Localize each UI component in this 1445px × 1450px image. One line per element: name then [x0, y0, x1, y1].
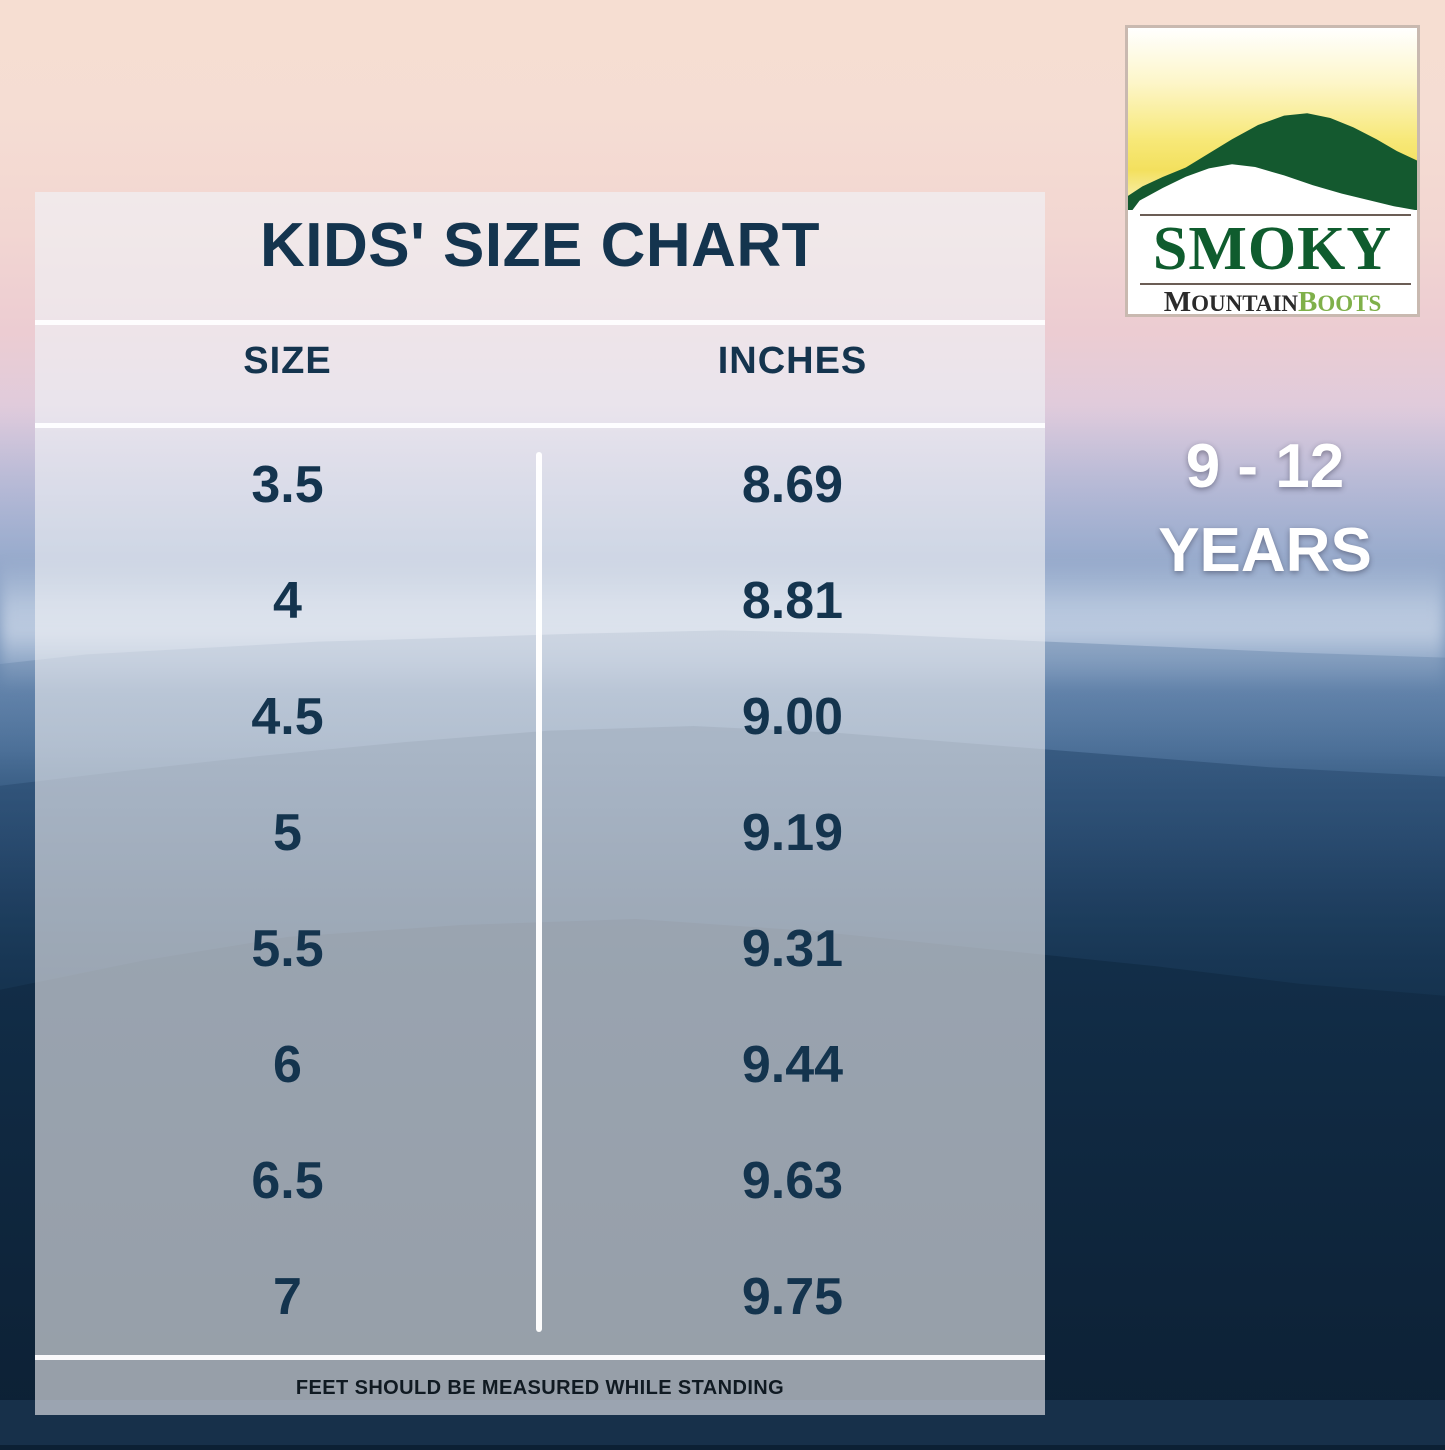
cell-size: 5.5 — [35, 919, 540, 979]
cell-inches: 9.63 — [540, 1151, 1045, 1211]
cell-size: 6.5 — [35, 1151, 540, 1211]
logo-subwordmark: MOUNTAINBOOTS — [1128, 286, 1417, 317]
size-chart-panel: KIDS' SIZE CHART SIZE INCHES 3.5 8.69 4 … — [35, 192, 1045, 1415]
cell-inches: 8.69 — [540, 455, 1045, 515]
logo-sub-b: B — [1298, 286, 1317, 317]
logo-sub-ountain: OUNTAIN — [1191, 291, 1298, 316]
divider-above-footnote — [35, 1355, 1045, 1360]
logo-wordmark: SMOKY — [1128, 218, 1417, 280]
logo-sub-oots: OOTS — [1317, 291, 1381, 316]
table-row: 6 9.44 — [35, 1007, 1045, 1123]
table-row: 4 8.81 — [35, 543, 1045, 659]
cell-size: 7 — [35, 1267, 540, 1327]
cell-inches: 9.44 — [540, 1035, 1045, 1095]
brand-logo: SMOKY MOUNTAINBOOTS — [1125, 25, 1420, 317]
table-row: 5.5 9.31 — [35, 891, 1045, 1007]
table-row: 5 9.19 — [35, 775, 1045, 891]
logo-divider-bottom — [1140, 283, 1411, 285]
size-table-body: 3.5 8.69 4 8.81 4.5 9.00 5 9.19 5.5 9.31… — [35, 427, 1045, 1355]
cell-size: 6 — [35, 1035, 540, 1095]
column-header-inches: INCHES — [540, 340, 1045, 383]
cell-inches: 9.00 — [540, 687, 1045, 747]
table-row: 4.5 9.00 — [35, 659, 1045, 775]
table-row: 7 9.75 — [35, 1239, 1045, 1355]
cell-size: 4.5 — [35, 687, 540, 747]
cell-inches: 9.31 — [540, 919, 1045, 979]
footnote-text: FEET SHOULD BE MEASURED WHILE STANDING — [35, 1377, 1045, 1400]
table-row: 3.5 8.69 — [35, 427, 1045, 543]
cell-size: 4 — [35, 571, 540, 631]
age-range-label: 9 - 12 YEARS — [1085, 425, 1445, 592]
divider-under-title — [35, 320, 1045, 325]
cell-size: 5 — [35, 803, 540, 863]
page-title: KIDS' SIZE CHART — [35, 210, 1045, 281]
table-header-row: SIZE INCHES — [35, 340, 1045, 383]
age-range-line-1: 9 - 12 — [1085, 425, 1445, 509]
cell-inches: 8.81 — [540, 571, 1045, 631]
table-row: 6.5 9.63 — [35, 1123, 1045, 1239]
cell-inches: 9.19 — [540, 803, 1045, 863]
column-header-size: SIZE — [35, 340, 540, 383]
logo-sub-m: M — [1164, 286, 1191, 317]
cell-size: 3.5 — [35, 455, 540, 515]
age-range-line-2: YEARS — [1085, 509, 1445, 593]
cell-inches: 9.75 — [540, 1267, 1045, 1327]
